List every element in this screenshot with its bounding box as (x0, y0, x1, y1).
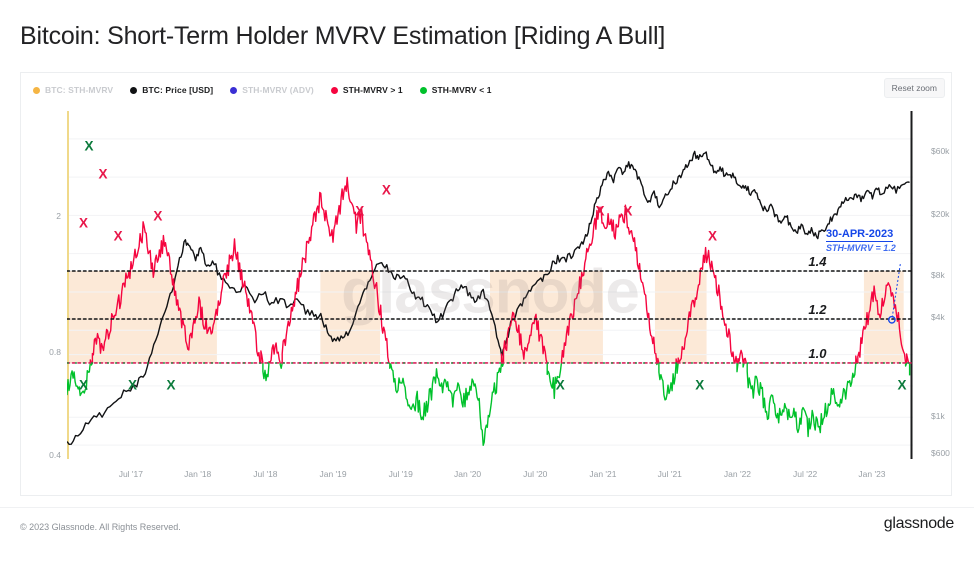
chart-canvas (67, 111, 913, 459)
threshold-label-1.4: 1.4 (808, 254, 826, 269)
series-sth-mvrv-below-one-18 (659, 363, 676, 400)
marker-top-red-1: X (79, 217, 88, 231)
series-sth-mvrv-below-one-6 (263, 363, 269, 381)
y-axis-right-tick-0: $60k (931, 146, 949, 156)
plot-area[interactable]: glassnode 1.41.21.0XXXXXXXXXXXXXXXX20.80… (67, 111, 913, 459)
marker-top-red-0: X (98, 167, 107, 181)
series-sth-mvrv-below-one-20 (677, 363, 678, 373)
marker-bottom-green-0: X (84, 139, 93, 153)
y-axis-left-tick-2: 0.4 (27, 450, 61, 460)
series-sth-mvrv-above-one-5 (261, 351, 263, 363)
legend-swatch-icon (331, 87, 338, 94)
legend-item-0[interactable]: BTC: STH-MVRV (33, 85, 113, 95)
annotation-date: 30-APR-2023 (826, 228, 893, 242)
glassnode-logo: glassnode (884, 515, 954, 533)
threshold-label-1.2: 1.2 (808, 302, 826, 317)
copyright-text: © 2023 Glassnode. All Rights Reserved. (20, 522, 181, 532)
legend-item-3[interactable]: STH-MVRV > 1 (331, 85, 403, 95)
x-axis-tick-11: Jan '23 (858, 469, 885, 479)
legend-item-label: STH-MVRV (ADV) (242, 85, 314, 95)
series-sth-mvrv-above-one-11 (502, 354, 503, 363)
x-axis-tick-8: Jul '21 (658, 469, 682, 479)
page-title: Bitcoin: Short-Term Holder MVRV Estimati… (20, 22, 665, 51)
x-axis-tick-1: Jan '18 (184, 469, 211, 479)
y-axis-right-tick-5: $600 (931, 448, 950, 458)
highlight-band-0 (67, 271, 217, 363)
marker-top-red-8: X (708, 229, 717, 243)
highlight-band-1 (320, 271, 380, 363)
annotation-value: STH-MVRV = 1.2 (826, 243, 956, 253)
legend-item-2[interactable]: STH-MVRV (ADV) (230, 85, 314, 95)
legend-item-label: STH-MVRV > 1 (343, 85, 403, 95)
legend-swatch-icon (130, 87, 137, 94)
legend-item-label: STH-MVRV < 1 (432, 85, 492, 95)
y-axis-left-tick-1: 0.8 (27, 347, 61, 357)
footer-divider (0, 507, 974, 508)
x-axis-tick-3: Jan '19 (319, 469, 346, 479)
x-axis-tick-4: Jul '19 (389, 469, 413, 479)
legend-item-label: BTC: STH-MVRV (45, 85, 113, 95)
y-axis-right-tick-4: $1k (931, 411, 945, 421)
threshold-label-1.0: 1.0 (808, 346, 826, 361)
series-sth-mvrv-above-one-23 (738, 350, 743, 363)
y-axis-right-tick-1: $20k (931, 209, 949, 219)
series-sth-mvrv-above-one-27 (856, 356, 857, 363)
y-axis-left-tick-0: 2 (27, 211, 61, 221)
marker-top-red-7: X (623, 204, 632, 218)
marker-bottom-green-6: X (897, 378, 906, 392)
reset-zoom-button[interactable]: Reset zoom (884, 78, 945, 98)
x-axis-tick-5: Jan '20 (454, 469, 481, 479)
x-axis-tick-6: Jul '20 (523, 469, 547, 479)
x-axis-tick-0: Jul '17 (119, 469, 143, 479)
marker-top-red-3: X (153, 209, 162, 223)
series-sth-mvrv-above-one-31 (907, 354, 910, 363)
marker-bottom-green-1: X (79, 378, 88, 392)
legend-item-label: BTC: Price [USD] (142, 85, 213, 95)
x-axis-tick-10: Jul '22 (793, 469, 817, 479)
marker-bottom-green-2: X (128, 378, 137, 392)
legend-swatch-icon (33, 87, 40, 94)
series-sth-mvrv-below-one-10 (390, 363, 502, 445)
marker-bottom-green-3: X (167, 378, 176, 392)
marker-top-red-5: X (382, 183, 391, 197)
marker-top-red-4: X (355, 204, 364, 218)
chart-legend: BTC: STH-MVRVBTC: Price [USD]STH-MVRV (A… (33, 81, 492, 99)
chart-page: Bitcoin: Short-Term Holder MVRV Estimati… (0, 0, 974, 561)
y-axis-right-tick-2: $8k (931, 270, 945, 280)
marker-top-red-2: X (114, 229, 123, 243)
x-axis-tick-9: Jan '22 (724, 469, 751, 479)
legend-swatch-icon (230, 87, 237, 94)
x-axis-tick-7: Jan '21 (589, 469, 616, 479)
chart-card: BTC: STH-MVRVBTC: Price [USD]STH-MVRV (A… (20, 72, 952, 496)
series-sth-mvrv-below-one-8 (280, 363, 282, 368)
legend-item-1[interactable]: BTC: Price [USD] (130, 85, 213, 95)
marker-bottom-green-4: X (556, 378, 565, 392)
legend-item-4[interactable]: STH-MVRV < 1 (420, 85, 492, 95)
price-annotation: 30-APR-2023 STH-MVRV = 1.2 (826, 224, 956, 253)
x-axis-tick-2: Jul '18 (253, 469, 277, 479)
marker-top-red-6: X (595, 204, 604, 218)
y-axis-right-tick-3: $4k (931, 312, 945, 322)
series-sth-mvrv-below-one-22 (737, 363, 738, 372)
series-sth-mvrv-above-one-7 (269, 343, 280, 363)
legend-swatch-icon (420, 87, 427, 94)
marker-bottom-green-5: X (695, 378, 704, 392)
series-sth-mvrv-below-one-26 (747, 363, 856, 437)
